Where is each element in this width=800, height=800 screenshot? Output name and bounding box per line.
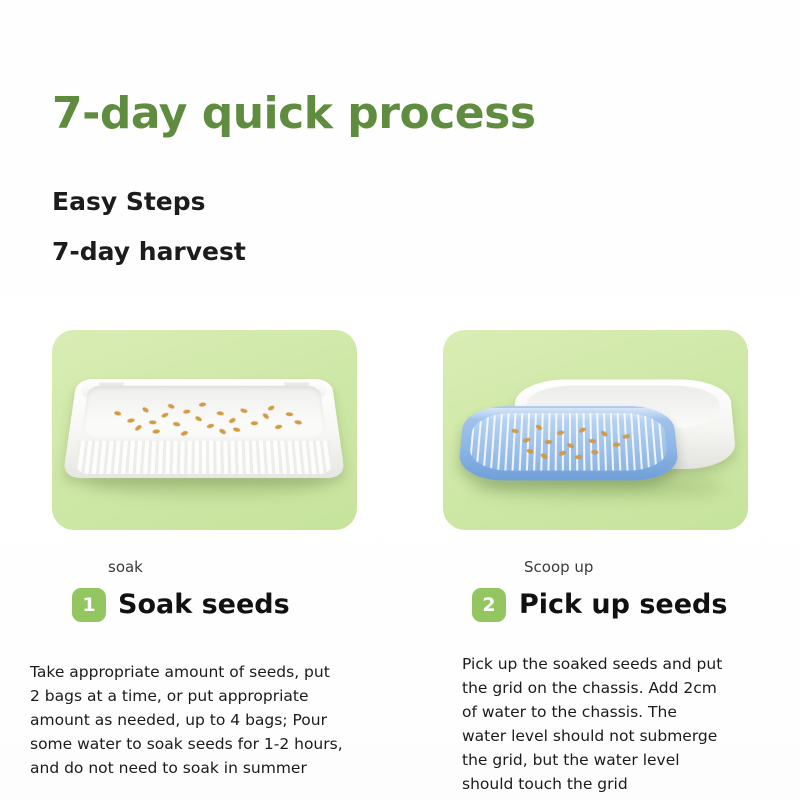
tray-basin: [82, 386, 327, 437]
page-title: 7-day quick process: [52, 88, 536, 139]
grid-rim: [466, 408, 671, 420]
blue-grid-illustration: [457, 406, 680, 480]
step-1-body-line: 2 bags at a time, or put appropriate: [30, 684, 410, 708]
step-2-kicker: Scoop up: [524, 558, 593, 576]
white-tray-illustration: [63, 379, 346, 478]
subtitle-harvest: 7-day harvest: [52, 237, 246, 266]
subtitle-easy-steps: Easy Steps: [52, 187, 206, 216]
step-2-body: Pick up the soaked seeds and put the gri…: [462, 652, 792, 796]
step-1-body-line: some water to soak seeds for 1-2 hours,: [30, 732, 410, 756]
step-2-body-line: Pick up the soaked seeds and put: [462, 652, 792, 676]
step-1-title: Soak seeds: [118, 589, 290, 620]
step-1-badge: 1: [72, 588, 106, 622]
tray-ribs: [74, 441, 335, 474]
grid-mesh: [468, 413, 668, 470]
step-2-image-card: [443, 330, 748, 530]
step-1-kicker: soak: [108, 558, 143, 576]
step-2-body-line: the grid, but the water level: [462, 748, 792, 772]
product-info-page: 7-day quick process Easy Steps 7-day har…: [0, 0, 800, 800]
step-1-body-line: amount as needed, up to 4 bags; Pour: [30, 708, 410, 732]
step-1-image-card: [52, 330, 357, 530]
step-2-body-line: the grid on the chassis. Add 2cm: [462, 676, 792, 700]
step-2-body-line: should touch the grid: [462, 772, 792, 796]
step-2-title: Pick up seeds: [519, 589, 727, 620]
step-2-body-line: of water to the chassis. The: [462, 700, 792, 724]
step-2-body-line: water level should not submerge: [462, 724, 792, 748]
step-2-badge: 2: [472, 588, 506, 622]
step-1-body-line: Take appropriate amount of seeds, put: [30, 660, 410, 684]
step-1-body: Take appropriate amount of seeds, put 2 …: [30, 660, 410, 780]
step-1-body-line: and do not need to soak in summer: [30, 756, 410, 780]
